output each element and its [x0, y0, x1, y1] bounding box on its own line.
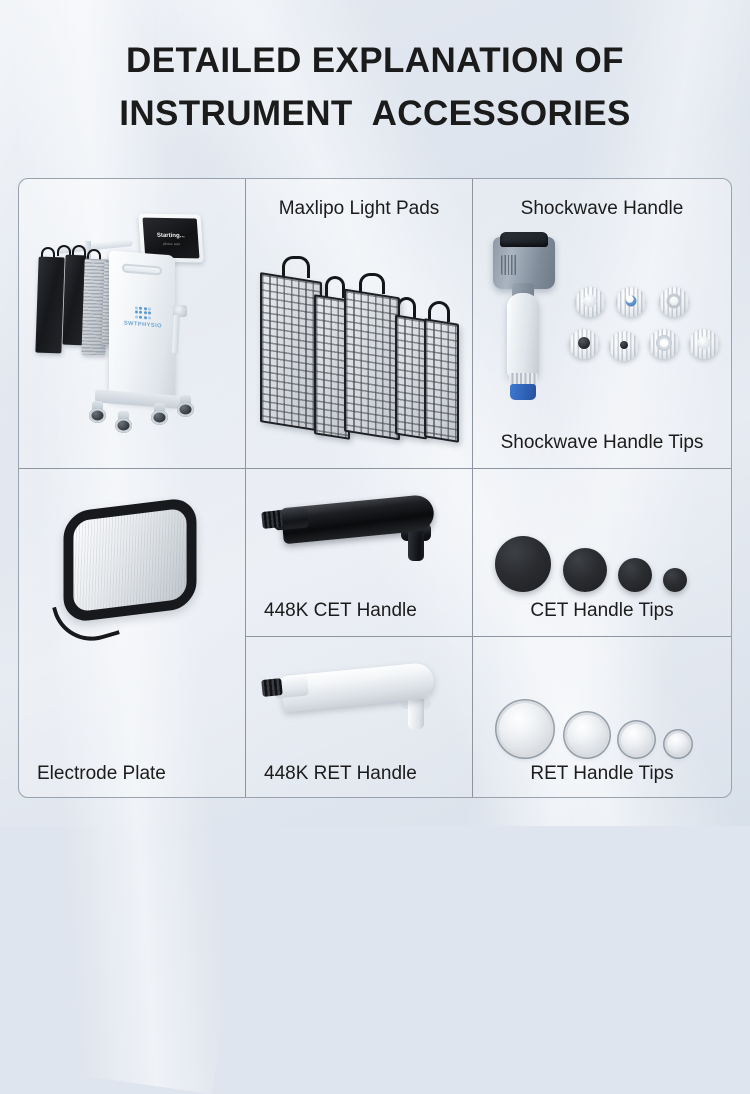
light-pad: [260, 272, 322, 432]
cell-cet-handle: 448K CET Handle: [246, 469, 473, 637]
machine-probe-holder: [172, 315, 180, 353]
cet-tip: [563, 548, 607, 592]
caster-wheel-icon: [151, 403, 168, 425]
machine-brand-logo: SWTPHYSIO: [122, 305, 164, 329]
cell-cet-handle-tips: CET Handle Tips: [473, 469, 731, 637]
cell-maxlipo-light-pads: Maxlipo Light Pads: [246, 179, 473, 469]
shockwave-tip: [649, 329, 679, 359]
electrode-plate-cable: [52, 592, 120, 650]
shockwave-tip: [689, 329, 719, 359]
ret-tip: [499, 703, 551, 755]
machine-illustration: Starting... please wait SWTPHYSIO: [19, 179, 245, 468]
hanging-black-pad: [35, 257, 64, 354]
label-ret-handle: 448K RET Handle: [264, 764, 417, 783]
accessories-grid: Starting... please wait SWTPHYSIO: [18, 178, 732, 798]
caster-wheel-icon: [89, 401, 106, 423]
ret-tip: [621, 724, 652, 755]
caster-wheel-icon: [177, 395, 194, 417]
cet-handle-connector: [408, 531, 424, 561]
display-status-text: Starting...: [157, 233, 185, 239]
cet-tip: [495, 536, 551, 592]
label-shockwave-handle-tips: Shockwave Handle Tips: [501, 433, 704, 452]
label-electrode-plate: Electrode Plate: [37, 764, 166, 783]
shockwave-tip: [609, 331, 639, 361]
cell-main-machine: Starting... please wait SWTPHYSIO: [19, 179, 246, 469]
cell-electrode-plate: Electrode Plate: [19, 469, 246, 798]
cet-tip: [618, 558, 652, 592]
shockwave-tip: [659, 287, 689, 317]
light-pad-strap: [325, 276, 345, 298]
cet-tip: [663, 568, 687, 592]
shockwave-handle-barrel: [507, 293, 539, 377]
ret-tips-group: [491, 637, 719, 755]
shockwave-tip: [575, 287, 605, 317]
label-ret-handle-tips: RET Handle Tips: [530, 764, 673, 783]
ret-handle-connector: [408, 699, 424, 729]
logo-dot-grid-icon: [122, 305, 164, 320]
display-sub-text: please wait: [163, 242, 180, 246]
title-line-2: INSTRUMENT ACCESSORIES: [0, 87, 750, 140]
vent-grille-icon: [501, 255, 518, 275]
cet-tips-group: [491, 469, 719, 592]
light-pad: [395, 314, 427, 439]
ret-tip: [567, 715, 607, 755]
label-cet-handle-tips: CET Handle Tips: [530, 601, 673, 620]
ret-handle-ribbed-tip: [261, 678, 283, 697]
cell-shockwave-handle: Shockwave Handle Shockwave Han: [473, 179, 731, 469]
light-pad: [344, 289, 400, 441]
electrode-plate-illustration: [19, 469, 245, 798]
label-cet-handle: 448K CET Handle: [264, 601, 417, 620]
page-title: DETAILED EXPLANATION OF INSTRUMENT ACCES…: [0, 34, 750, 140]
ret-tip: [667, 733, 689, 755]
shockwave-illustration: [473, 179, 731, 468]
shockwave-handle-blue-tip: [510, 384, 536, 400]
cell-ret-handle: 448K RET Handle: [246, 637, 473, 798]
light-pads-illustration: [246, 179, 472, 468]
caster-wheel-icon: [115, 411, 132, 433]
light-pad-strap: [282, 256, 310, 278]
cet-handle-ribbed-tip: [261, 510, 283, 529]
shockwave-tip: [569, 329, 599, 359]
shockwave-handle-head: [493, 237, 555, 289]
shockwave-tips-group: [569, 287, 729, 371]
light-pad: [424, 318, 459, 443]
title-line-1: DETAILED EXPLANATION OF: [0, 34, 750, 87]
shockwave-tip: [616, 287, 646, 317]
cell-ret-handle-tips: RET Handle Tips: [473, 637, 731, 798]
